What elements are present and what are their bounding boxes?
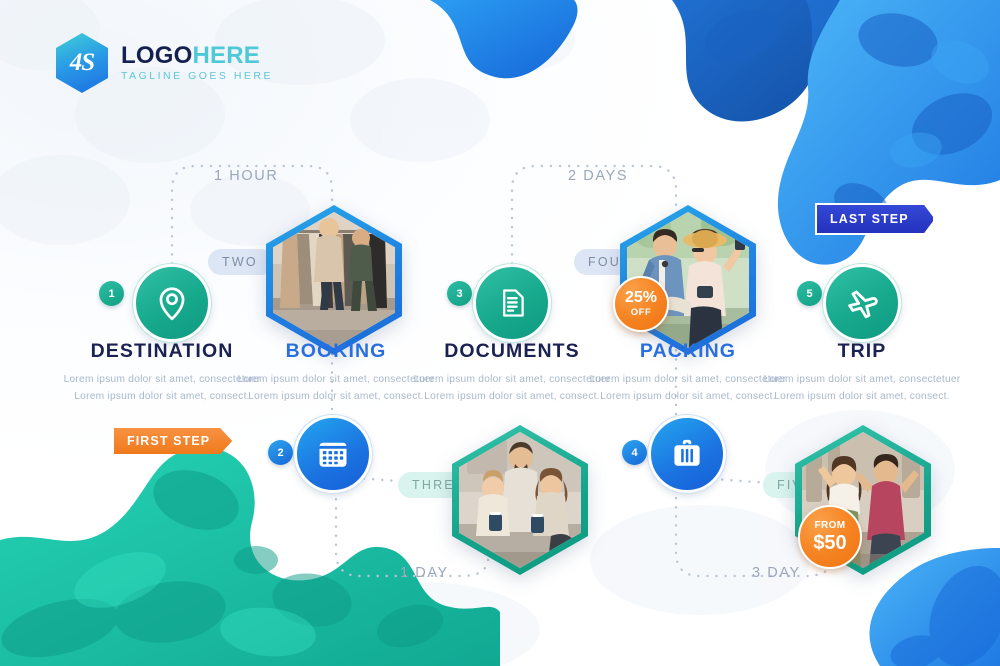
promo-line-2: OFF xyxy=(631,308,652,318)
promo-line-1: 25% xyxy=(625,290,657,306)
step-1-column: DESTINATION Lorem ipsum dolor sit amet, … xyxy=(62,340,262,405)
calendar-icon xyxy=(294,415,372,493)
step-4-column: PACKING Lorem ipsum dolor sit amet, cons… xyxy=(588,340,788,405)
promo-line-1: FROM xyxy=(814,521,845,531)
step-1-description: Lorem ipsum dolor sit amet, consectetuer… xyxy=(62,372,262,405)
duration-label-2-days: 2 DAYS xyxy=(568,168,628,184)
step-4-number-badge: 4 xyxy=(622,440,647,465)
step-2-column: BOOKING Lorem ipsum dolor sit amet, cons… xyxy=(236,340,436,405)
duration-label-3-day: 3 DAY xyxy=(752,565,801,581)
logo-text-block: LOGOHERE TAGLINE GOES HERE xyxy=(121,44,273,82)
documents-photo-hexagon[interactable] xyxy=(452,425,588,575)
step-3-column: DOCUMENTS Lorem ipsum dolor sit amet, co… xyxy=(412,340,612,405)
step-4-icon-node[interactable] xyxy=(648,415,726,493)
step-2-number-badge: 2 xyxy=(268,440,293,465)
step-3-description: Lorem ipsum dolor sit amet, consectetuer… xyxy=(412,372,612,405)
ribbon-first-step[interactable]: FIRST STEP xyxy=(114,428,232,454)
step-4-title: PACKING xyxy=(588,340,788,363)
infographic-canvas: 1 HOUR 1 DAY 2 DAYS 3 DAY TWO THREE FOUR… xyxy=(0,0,1000,666)
logo-name-part2: HERE xyxy=(192,42,259,69)
step-1-number-badge: 1 xyxy=(99,281,124,306)
duration-label-1-day: 1 DAY xyxy=(400,565,449,581)
promo-badge-from-50[interactable]: FROM $50 xyxy=(798,505,862,569)
booking-photo-hexagon[interactable] xyxy=(266,205,402,355)
step-5-description: Lorem ipsum dolor sit amet, consectetuer… xyxy=(762,372,962,405)
promo-line-2: $50 xyxy=(813,533,846,553)
step-5-column: TRIP Lorem ipsum dolor sit amet, consect… xyxy=(762,340,962,405)
location-pin-icon xyxy=(133,264,211,342)
logo-hexagon-mark: 4S xyxy=(56,33,108,93)
step-5-number-badge: 5 xyxy=(797,281,822,306)
step-3-icon-node[interactable] xyxy=(473,264,551,342)
step-4-description: Lorem ipsum dolor sit amet, consectetuer… xyxy=(588,372,788,405)
logo-tagline: TAGLINE GOES HERE xyxy=(121,70,273,82)
duration-label-1-hour: 1 HOUR xyxy=(214,168,278,184)
step-2-title: BOOKING xyxy=(236,340,436,363)
step-5-icon-node[interactable] xyxy=(823,264,901,342)
ribbon-last-step[interactable]: LAST STEP xyxy=(815,203,935,235)
suitcase-icon xyxy=(648,415,726,493)
logo-name: LOGOHERE xyxy=(121,44,273,68)
step-1-icon-node[interactable] xyxy=(133,264,211,342)
logo[interactable]: 4S LOGOHERE TAGLINE GOES HERE xyxy=(56,33,273,93)
airplane-icon xyxy=(823,264,901,342)
step-2-icon-node[interactable] xyxy=(294,415,372,493)
promo-badge-25-off[interactable]: 25% OFF xyxy=(613,276,669,332)
step-1-title: DESTINATION xyxy=(62,340,262,363)
logo-mark-text: 4S xyxy=(56,33,108,93)
logo-name-part1: LOGO xyxy=(121,42,192,69)
document-icon xyxy=(473,264,551,342)
step-3-title: DOCUMENTS xyxy=(412,340,612,363)
pill-label-two: TWO xyxy=(208,249,274,275)
step-3-number-badge: 3 xyxy=(447,281,472,306)
step-2-description: Lorem ipsum dolor sit amet, consectetuer… xyxy=(236,372,436,405)
step-5-title: TRIP xyxy=(762,340,962,363)
